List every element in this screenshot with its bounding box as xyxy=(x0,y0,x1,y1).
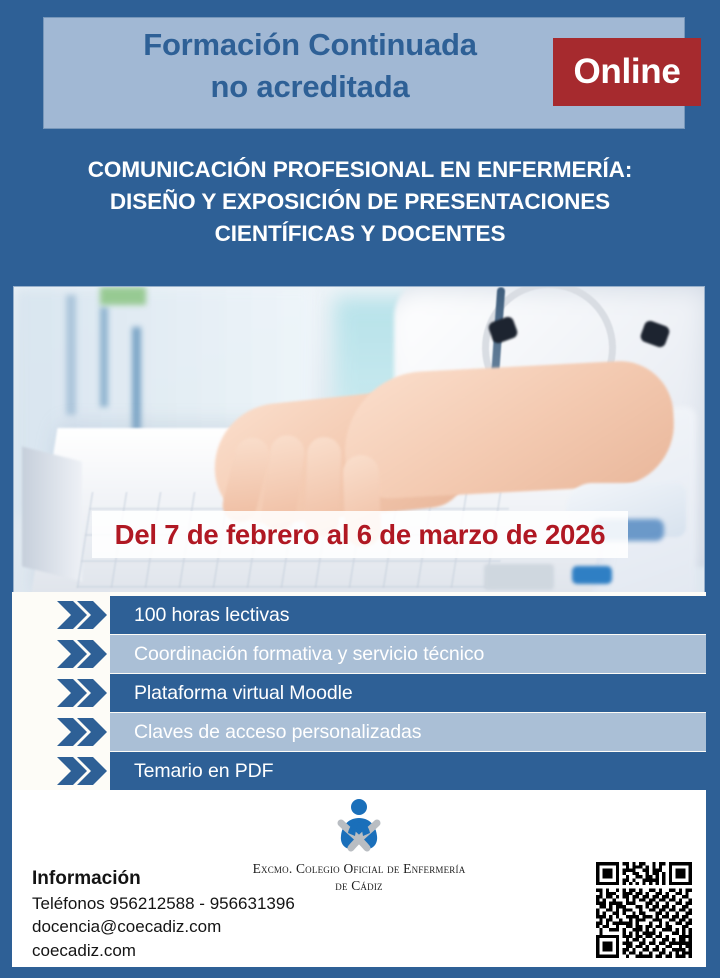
footer-panel: Excmo. Colegio Oficial de Enfermería de … xyxy=(12,790,706,967)
online-badge: Online xyxy=(553,38,701,106)
feature-row: Coordinación formativa y servicio técnic… xyxy=(12,635,706,673)
website-line[interactable]: coecadiz.com xyxy=(32,939,295,962)
title-line-2: DISEÑO Y EXPOSICIÓN DE PRESENTACIONES xyxy=(18,186,702,218)
feature-label: Temario en PDF xyxy=(110,760,273,783)
chevron-right-icon xyxy=(57,678,109,708)
photo-hand-right xyxy=(341,358,677,500)
feature-row: Claves de acceso personalizadas xyxy=(12,713,706,751)
feature-row: 100 horas lectivas xyxy=(12,596,706,634)
feature-row: Temario en PDF xyxy=(12,752,706,790)
email-line[interactable]: docencia@coecadiz.com xyxy=(32,915,295,938)
feature-label: Plataforma virtual Moodle xyxy=(110,682,353,705)
feature-label: Claves de acceso personalizadas xyxy=(110,721,421,744)
title-line-3: CIENTÍFICAS Y DOCENTES xyxy=(18,218,702,250)
feature-bar: Coordinación formativa y servicio técnic… xyxy=(110,635,706,673)
qr-code[interactable] xyxy=(596,862,692,958)
photo-blue-accent xyxy=(572,566,612,584)
feature-label: 100 horas lectivas xyxy=(110,604,289,627)
page-title: COMUNICACIÓN PROFESIONAL EN ENFERMERÍA: … xyxy=(18,154,702,250)
photo-plant-blur xyxy=(100,287,146,305)
feature-bar: Claves de acceso personalizadas xyxy=(110,713,706,751)
poster-root: { "colors": { "background_blue": "#2e609… xyxy=(0,0,720,978)
chevron-right-icon xyxy=(57,756,109,786)
chevron-right-icon xyxy=(57,639,109,669)
phone-line: Teléfonos 956212588 - 956631396 xyxy=(32,892,295,915)
feature-bar: 100 horas lectivas xyxy=(110,596,706,634)
chevron-right-icon xyxy=(57,717,109,747)
chevron-right-icon xyxy=(57,600,109,630)
header-heading: Formación Continuada no acreditada xyxy=(60,24,560,108)
header-line-2: no acreditada xyxy=(60,66,560,108)
photo-shelf-line xyxy=(100,307,108,407)
feature-label: Coordinación formativa y servicio técnic… xyxy=(110,643,484,666)
feature-bar: Temario en PDF xyxy=(110,752,706,790)
photo-desk-object xyxy=(484,564,554,590)
info-heading: Información xyxy=(32,868,295,890)
contact-info: Información Teléfonos 956212588 - 956631… xyxy=(32,868,295,962)
colegio-enfermeria-logo-icon xyxy=(333,798,385,852)
feature-row: Plataforma virtual Moodle xyxy=(12,674,706,712)
title-line-1: COMUNICACIÓN PROFESIONAL EN ENFERMERÍA: xyxy=(18,154,702,186)
feature-bar: Plataforma virtual Moodle xyxy=(110,674,706,712)
date-banner: Del 7 de febrero al 6 de marzo de 2026 xyxy=(92,511,628,558)
photo-laptop-screen xyxy=(22,447,82,582)
features-panel: 100 horas lectivas Coordinación formativ… xyxy=(12,592,706,798)
header-line-1: Formación Continuada xyxy=(60,24,560,66)
photo-shelf-line xyxy=(66,295,76,415)
